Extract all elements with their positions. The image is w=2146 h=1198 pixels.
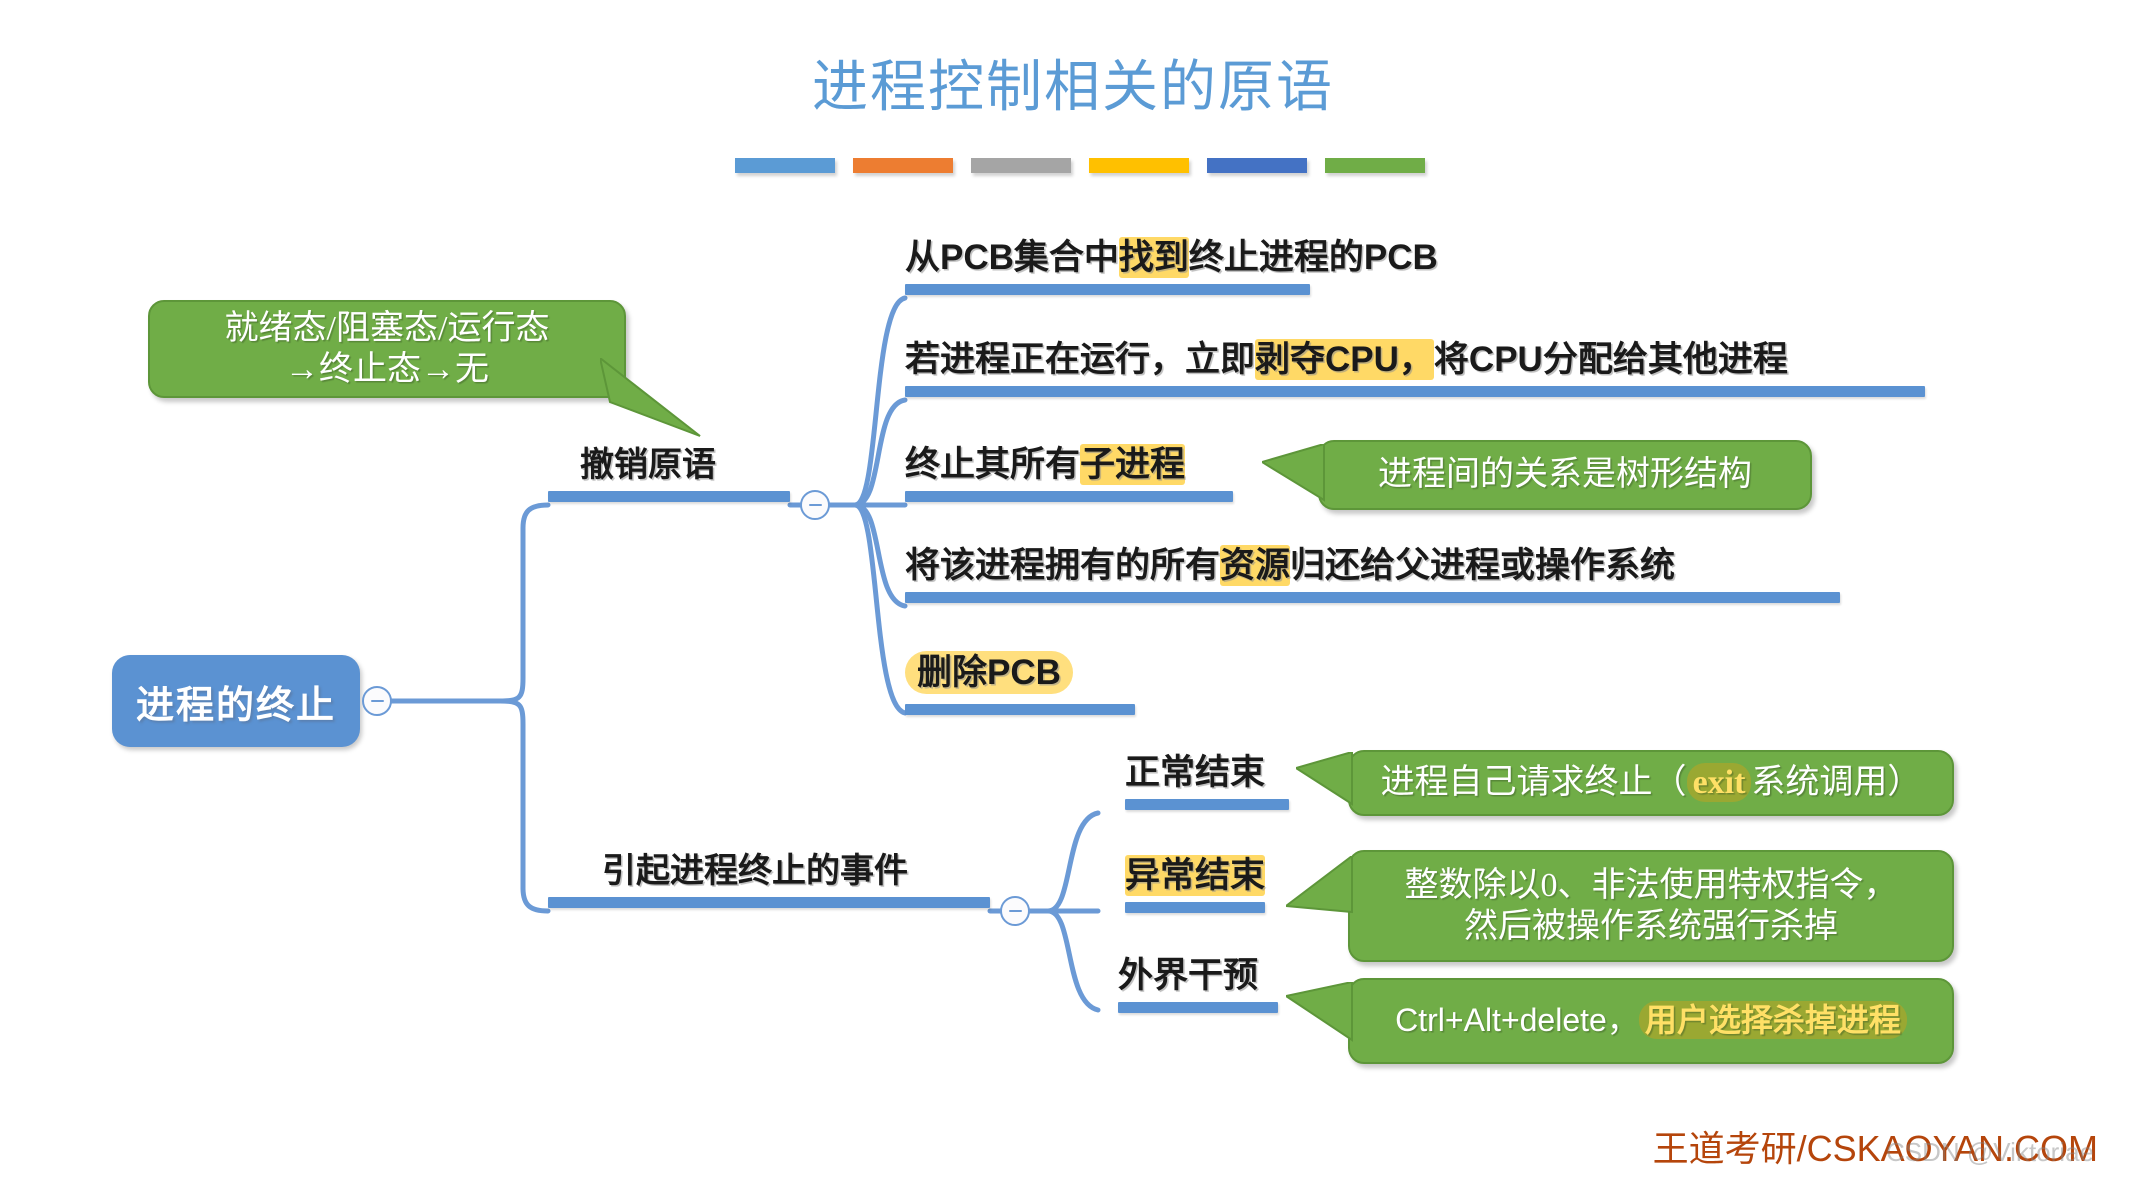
leaf-underline-external-intervention — [1118, 1002, 1278, 1013]
leaf-underline-delete-pcb — [905, 704, 1135, 715]
title-decoration-bars — [735, 158, 1425, 173]
title-bar-indigo — [1207, 158, 1307, 173]
callout-state-tail — [600, 358, 710, 438]
leaf-node-abnormal-exit[interactable]: 异常结束 — [1125, 858, 1265, 913]
wire-revoke-leaf-2 — [855, 400, 905, 505]
leaf-underline-abnormal-exit — [1125, 902, 1265, 913]
callout-abnormal-termination: 整数除以0、非法使用特权指令， 然后被操作系统强行杀掉 — [1348, 850, 1954, 962]
callout-state-line1: 就绪态/阻塞态/运行态 — [225, 308, 550, 349]
root-node-process-termination[interactable]: 进程的终止 — [112, 655, 360, 747]
revoke-collapse-minus-circle-icon[interactable] — [800, 490, 830, 520]
page-title: 进程控制相关的原语 — [0, 42, 2146, 123]
wire-revoke-leaf-4 — [855, 505, 905, 606]
leaf-node-terminate-children[interactable]: 终止其所有子进程 — [905, 447, 1233, 502]
callout-abnormal-tail — [1286, 856, 1358, 922]
callout-tree-tail — [1262, 444, 1332, 510]
callout-external-text: Ctrl+Alt+delete，用户选择杀掉进程 — [1395, 1001, 1907, 1040]
leaf-text-preempt-cpu: 若进程正在运行，立即剥夺CPU，将CPU分配给其他进程 — [905, 342, 1788, 379]
callout-tree-structure: 进程间的关系是树形结构 — [1318, 440, 1812, 510]
leaf-underline-terminate-children — [905, 491, 1233, 502]
leaf-node-return-resources[interactable]: 将该进程拥有的所有资源归还给父进程或操作系统 — [905, 548, 1840, 603]
leaf-text-delete-pcb: 删除PCB — [905, 655, 1073, 692]
callout-external-intervention: Ctrl+Alt+delete，用户选择杀掉进程 — [1348, 978, 1954, 1064]
root-node-label: 进程的终止 — [136, 674, 336, 729]
callout-exit-syscall: 进程自己请求终止（exit系统调用） — [1348, 750, 1954, 816]
branch-label-events: 引起进程终止的事件 — [602, 854, 908, 890]
leaf-underline-preempt-cpu — [905, 386, 1925, 397]
branch-label-revoke: 撤销原语 — [580, 448, 716, 484]
leaf-node-external-intervention[interactable]: 外界干预 — [1118, 958, 1278, 1013]
wire-events-leaf-3 — [1048, 911, 1098, 1010]
wire-revoke-leaf-5 — [855, 505, 905, 713]
leaf-text-return-resources: 将该进程拥有的所有资源归还给父进程或操作系统 — [905, 548, 1675, 585]
title-bar-gray — [971, 158, 1071, 173]
events-collapse-minus-circle-icon[interactable] — [1000, 896, 1030, 926]
wire-root-to-events — [500, 701, 548, 911]
wire-revoke-leaf-1 — [855, 298, 905, 505]
branch-node-revoke-primitive[interactable]: 撤销原语 — [548, 448, 790, 502]
leaf-node-normal-exit[interactable]: 正常结束 — [1125, 755, 1289, 810]
leaf-node-preempt-cpu[interactable]: 若进程正在运行，立即剥夺CPU，将CPU分配给其他进程 — [905, 342, 1925, 397]
title-bar-yellow — [1089, 158, 1189, 173]
callout-abnormal-line1: 整数除以0、非法使用特权指令， — [1405, 865, 1898, 906]
leaf-text-terminate-children: 终止其所有子进程 — [905, 447, 1185, 484]
root-collapse-minus-circle-icon[interactable] — [362, 686, 392, 716]
leaf-node-find-pcb[interactable]: 从PCB集合中找到终止进程的PCB — [905, 240, 1310, 295]
leaf-text-find-pcb: 从PCB集合中找到终止进程的PCB — [905, 240, 1438, 277]
callout-abnormal-line2: 然后被操作系统强行杀掉 — [1464, 906, 1838, 947]
wire-events-leaf-1 — [1048, 813, 1098, 911]
leaf-text-normal-exit: 正常结束 — [1125, 755, 1265, 792]
branch-underline-revoke — [548, 491, 790, 502]
callout-external-tail — [1286, 982, 1358, 1052]
watermark-text: CSDN @Viktoriae — [1886, 1137, 2094, 1168]
leaf-underline-normal-exit — [1125, 799, 1289, 810]
title-bar-orange — [853, 158, 953, 173]
callout-exit-tail — [1296, 752, 1358, 814]
title-bar-green — [1325, 158, 1425, 173]
callout-exit-text: 进程自己请求终止（exit系统调用） — [1381, 762, 1922, 803]
callout-state-transition: 就绪态/阻塞态/运行态 →终止态→无 — [148, 300, 626, 398]
branch-underline-events — [548, 897, 990, 908]
wire-root-to-revoke — [500, 505, 548, 701]
branch-node-termination-events[interactable]: 引起进程终止的事件 — [548, 854, 990, 908]
title-bar-blue — [735, 158, 835, 173]
callout-tree-text: 进程间的关系是树形结构 — [1378, 454, 1752, 495]
leaf-text-external-intervention: 外界干预 — [1118, 958, 1258, 995]
leaf-node-delete-pcb[interactable]: 删除PCB — [905, 655, 1135, 715]
leaf-text-abnormal-exit: 异常结束 — [1125, 858, 1265, 895]
leaf-underline-find-pcb — [905, 284, 1310, 295]
leaf-underline-return-resources — [905, 592, 1840, 603]
callout-state-line2: →终止态→无 — [285, 349, 489, 390]
